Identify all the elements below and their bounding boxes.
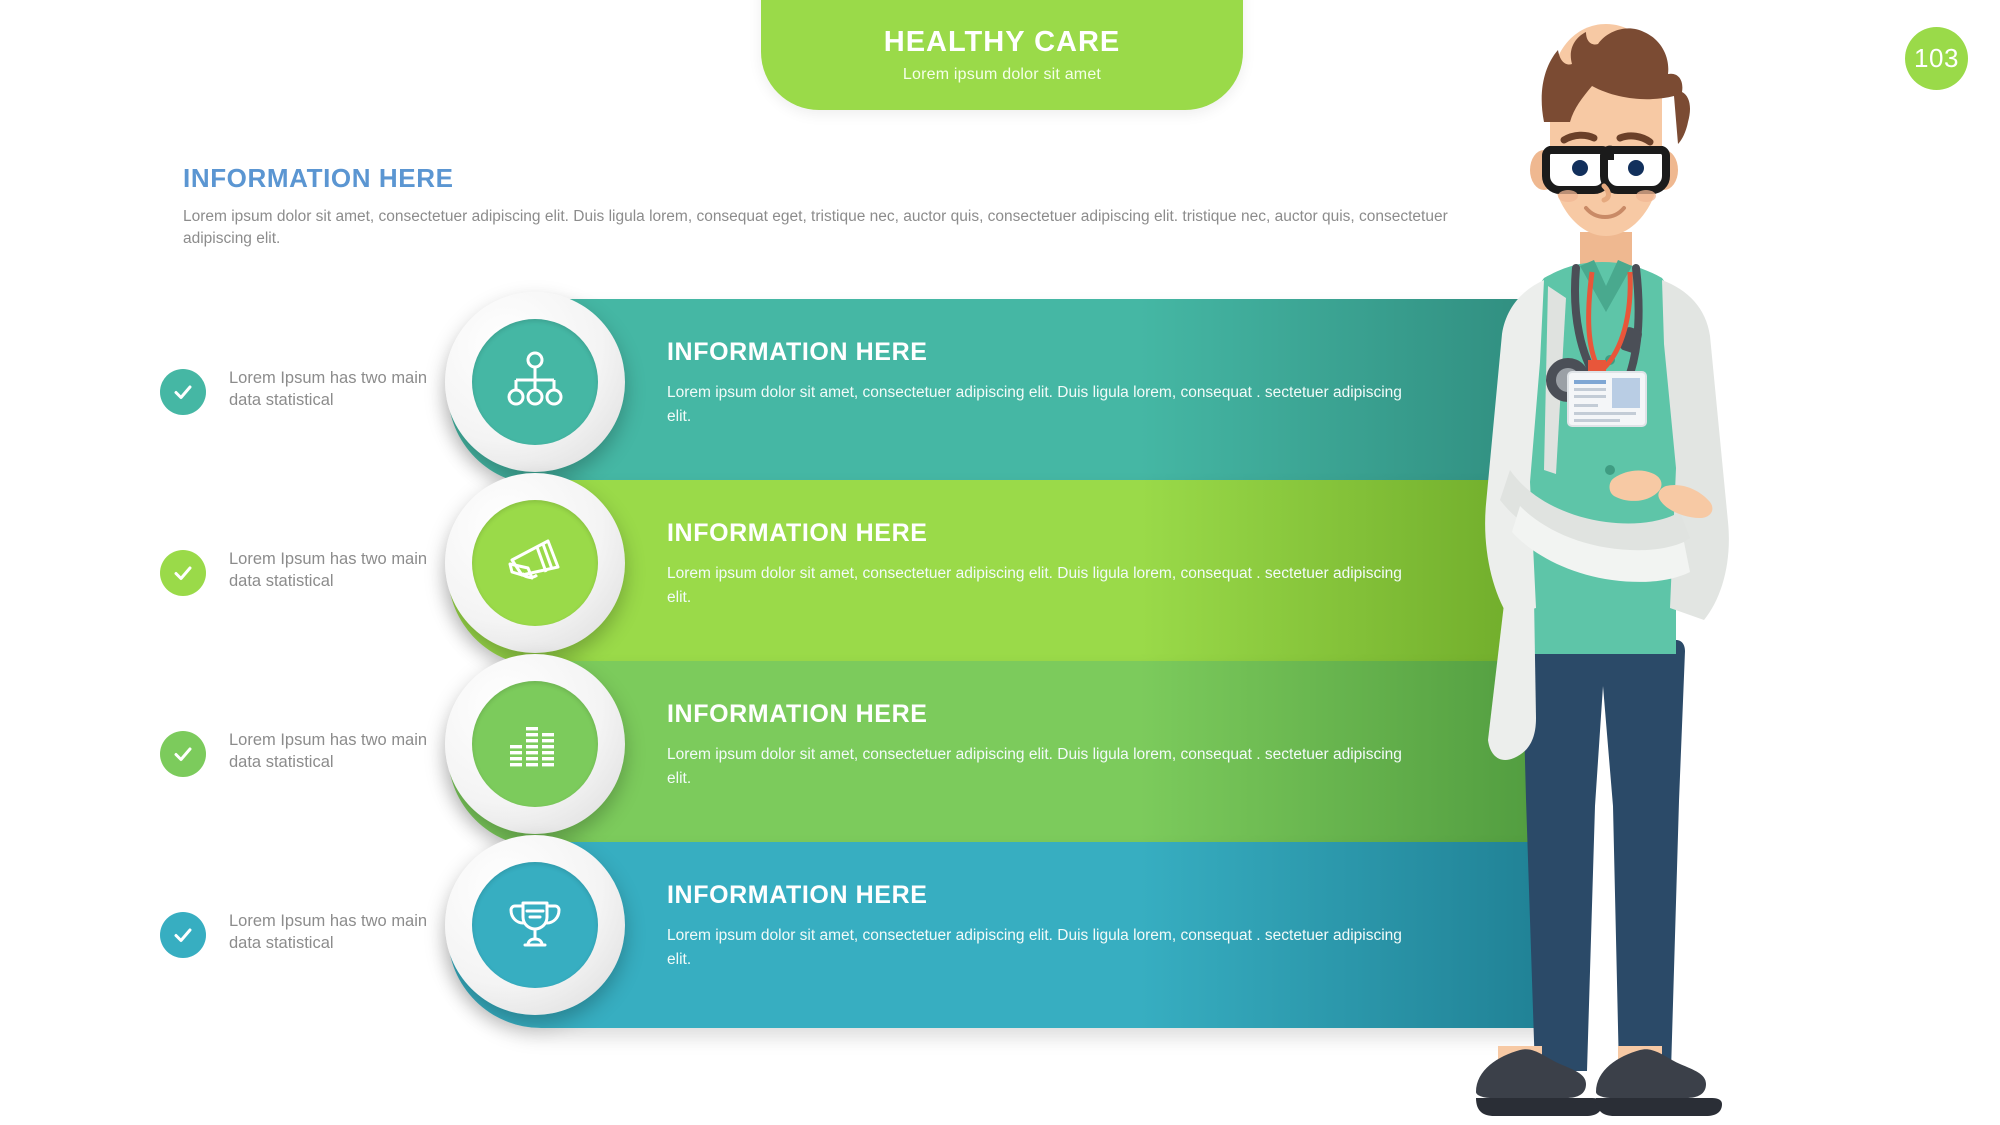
row-1-medallion[interactable] bbox=[445, 292, 625, 472]
info-row-4[interactable]: INFORMATION HERE Lorem ipsum dolor sit a… bbox=[448, 842, 1564, 1028]
row-3-text: INFORMATION HERE Lorem ipsum dolor sit a… bbox=[667, 700, 1427, 791]
info-row-2[interactable]: INFORMATION HERE Lorem ipsum dolor sit a… bbox=[448, 480, 1564, 666]
check-label-4: Lorem Ipsum has two main data statistica… bbox=[229, 910, 444, 955]
row-2-icon-disc bbox=[472, 500, 598, 626]
row-2-title: INFORMATION HERE bbox=[667, 519, 1427, 548]
doctor-illustration bbox=[1440, 0, 1770, 1125]
check-item-1: Lorem Ipsum has two main data statistica… bbox=[160, 367, 460, 415]
row-4-medallion[interactable] bbox=[445, 835, 625, 1015]
row-4-body: Lorem ipsum dolor sit amet, consectetuer… bbox=[667, 924, 1427, 972]
check-label-3: Lorem Ipsum has two main data statistica… bbox=[229, 729, 444, 774]
row-4-title: INFORMATION HERE bbox=[667, 881, 1427, 910]
row-3-body: Lorem ipsum dolor sit amet, consectetuer… bbox=[667, 743, 1427, 791]
check-item-3: Lorem Ipsum has two main data statistica… bbox=[160, 729, 460, 777]
check-icon-4 bbox=[160, 912, 206, 958]
row-3-medallion[interactable] bbox=[445, 654, 625, 834]
check-label-1: Lorem Ipsum has two main data statistica… bbox=[229, 367, 444, 412]
row-1-text: INFORMATION HERE Lorem ipsum dolor sit a… bbox=[667, 338, 1427, 429]
hierarchy-icon bbox=[504, 349, 566, 416]
check-label-2: Lorem Ipsum has two main data statistica… bbox=[229, 548, 444, 593]
check-icon-2 bbox=[160, 550, 206, 596]
row-3-icon-disc bbox=[472, 681, 598, 807]
row-2-body: Lorem ipsum dolor sit amet, consectetuer… bbox=[667, 562, 1427, 610]
trophy-icon bbox=[503, 891, 567, 960]
slide-canvas: HEALTHY CARE Lorem ipsum dolor sit amet … bbox=[0, 0, 2000, 1125]
row-3-title: INFORMATION HERE bbox=[667, 700, 1427, 729]
row-1-title: INFORMATION HERE bbox=[667, 338, 1427, 367]
row-4-text: INFORMATION HERE Lorem ipsum dolor sit a… bbox=[667, 881, 1427, 972]
equalizer-icon bbox=[504, 711, 566, 778]
info-row-1[interactable]: INFORMATION HERE Lorem ipsum dolor sit a… bbox=[448, 299, 1564, 485]
check-item-4: Lorem Ipsum has two main data statistica… bbox=[160, 910, 460, 958]
row-2-medallion[interactable] bbox=[445, 473, 625, 653]
row-1-icon-disc bbox=[472, 319, 598, 445]
row-2-text: INFORMATION HERE Lorem ipsum dolor sit a… bbox=[667, 519, 1427, 610]
check-icon-3 bbox=[160, 731, 206, 777]
row-1-body: Lorem ipsum dolor sit amet, consectetuer… bbox=[667, 381, 1427, 429]
check-icon-1 bbox=[160, 369, 206, 415]
row-4-icon-disc bbox=[472, 862, 598, 988]
megaphone-icon bbox=[502, 528, 568, 599]
check-item-2: Lorem Ipsum has two main data statistica… bbox=[160, 548, 460, 596]
info-row-3[interactable]: INFORMATION HERE Lorem ipsum dolor sit a… bbox=[448, 661, 1564, 847]
